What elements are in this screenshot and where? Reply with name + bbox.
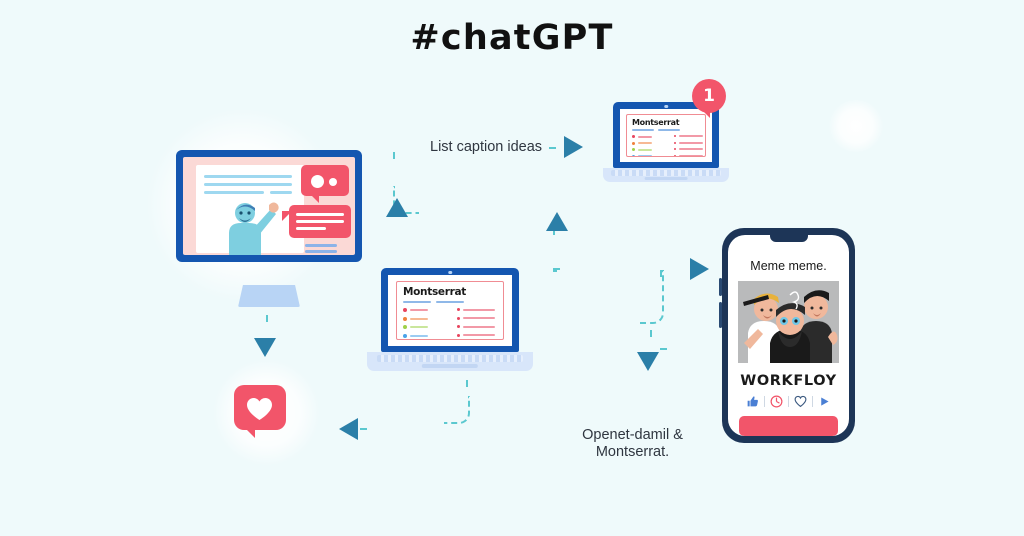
chat-bubble-small (301, 165, 349, 196)
laptop-main-lid: Montserrat (381, 268, 519, 352)
list-bullet (457, 325, 460, 328)
phone-post-caption: Meme meme. (728, 259, 849, 273)
list-item (410, 309, 428, 311)
meme-people-illustration (738, 281, 839, 363)
list-item (679, 142, 703, 144)
heart-outline-icon[interactable] (794, 395, 807, 408)
list-item (679, 135, 703, 137)
arrow-to-top-laptop (386, 198, 408, 217)
phone-post-headline: WORKFLOY (728, 373, 849, 389)
list-item (463, 317, 495, 319)
arrow-caption-ideas (564, 136, 583, 158)
list-bullet (403, 325, 407, 329)
label-list-caption-ideas: List caption ideas (430, 139, 542, 156)
heart-icon (246, 397, 273, 421)
chat-bubble-large (289, 205, 351, 238)
heart-reaction-bubble (234, 385, 286, 430)
list-bullet (403, 334, 407, 338)
list-bullet (403, 308, 407, 312)
thumbs-up-icon[interactable] (746, 395, 759, 408)
list-item (638, 155, 652, 157)
list-item (638, 149, 652, 151)
arrow-to-phone-upper (690, 258, 709, 280)
laptop-main-camera (448, 271, 452, 275)
list-bullet (457, 308, 460, 311)
connector-monitor-to-heart (266, 315, 268, 339)
action-divider-3 (812, 396, 813, 407)
list-bullet (632, 142, 635, 145)
arrow-to-heart (254, 338, 276, 357)
laptop-top: Montserrat (613, 102, 729, 182)
send-icon[interactable] (818, 395, 831, 408)
list-item (679, 148, 703, 150)
laptop-main-base (367, 352, 533, 371)
list-item (463, 309, 495, 311)
label-fonts-note: Openet-damil & Montserrat. (560, 427, 705, 461)
font-card-main: Montserrat (396, 281, 504, 340)
list-bullet (632, 155, 635, 158)
arrow-laptop-up (546, 212, 568, 231)
font-card-top-title: Montserrat (632, 118, 679, 127)
font-card-main-title: Montserrat (403, 286, 466, 298)
list-bullet (632, 148, 635, 151)
connector-return-corner (444, 396, 470, 424)
list-bullet (457, 317, 460, 320)
connector-return-horizontal (360, 428, 450, 430)
arrow-return-left (339, 418, 358, 440)
reaction-icon[interactable] (770, 395, 783, 408)
laptop-main-screen: Montserrat (388, 275, 512, 346)
phone-screen: Meme meme. (728, 235, 849, 436)
connector-down-stub (650, 330, 652, 352)
laptop-top-camera (664, 105, 668, 109)
illustration-canvas: #chatGPT (0, 0, 1024, 536)
laptop-top-base (603, 168, 729, 182)
font-card-top: Montserrat (626, 114, 706, 157)
left-monitor (176, 150, 362, 262)
list-item (463, 326, 495, 328)
connector-to-phone-upper (553, 268, 693, 270)
monitor-stand (238, 285, 300, 307)
page-title: #chatGPT (0, 18, 1024, 58)
laptop-main-keys (377, 355, 523, 363)
list-item (638, 142, 652, 144)
list-item (463, 334, 495, 336)
connector-drop-corner (638, 270, 664, 324)
monitor-screen (183, 157, 355, 255)
arrow-down-to-note (637, 352, 659, 371)
phone-post-photo (738, 281, 839, 363)
list-bullet (632, 135, 635, 138)
connector-to-phone-lower (660, 348, 722, 350)
list-bullet (457, 334, 460, 337)
connector-branch-corner (553, 268, 557, 272)
list-bullet (674, 142, 676, 144)
phone-device: Meme meme. (722, 228, 855, 443)
laptop-main: Montserrat (381, 268, 533, 371)
phone-action-bar (728, 395, 849, 408)
list-bullet (674, 135, 676, 137)
list-item (679, 155, 703, 157)
glow-right (828, 100, 884, 152)
notification-badge[interactable]: 1 (692, 79, 726, 113)
list-bullet (674, 155, 676, 157)
list-item (410, 335, 428, 337)
laptop-top-keys (611, 170, 722, 176)
list-bullet (403, 317, 407, 321)
action-divider-1 (764, 396, 765, 407)
action-divider-2 (788, 396, 789, 407)
phone-cta-button[interactable] (739, 416, 838, 436)
presenter-illustration (219, 199, 281, 255)
phone-notch (770, 235, 808, 242)
list-item (410, 318, 428, 320)
list-bullet (674, 148, 676, 150)
list-item (638, 136, 652, 138)
connector-laptop-up (553, 228, 555, 268)
list-item (410, 326, 428, 328)
